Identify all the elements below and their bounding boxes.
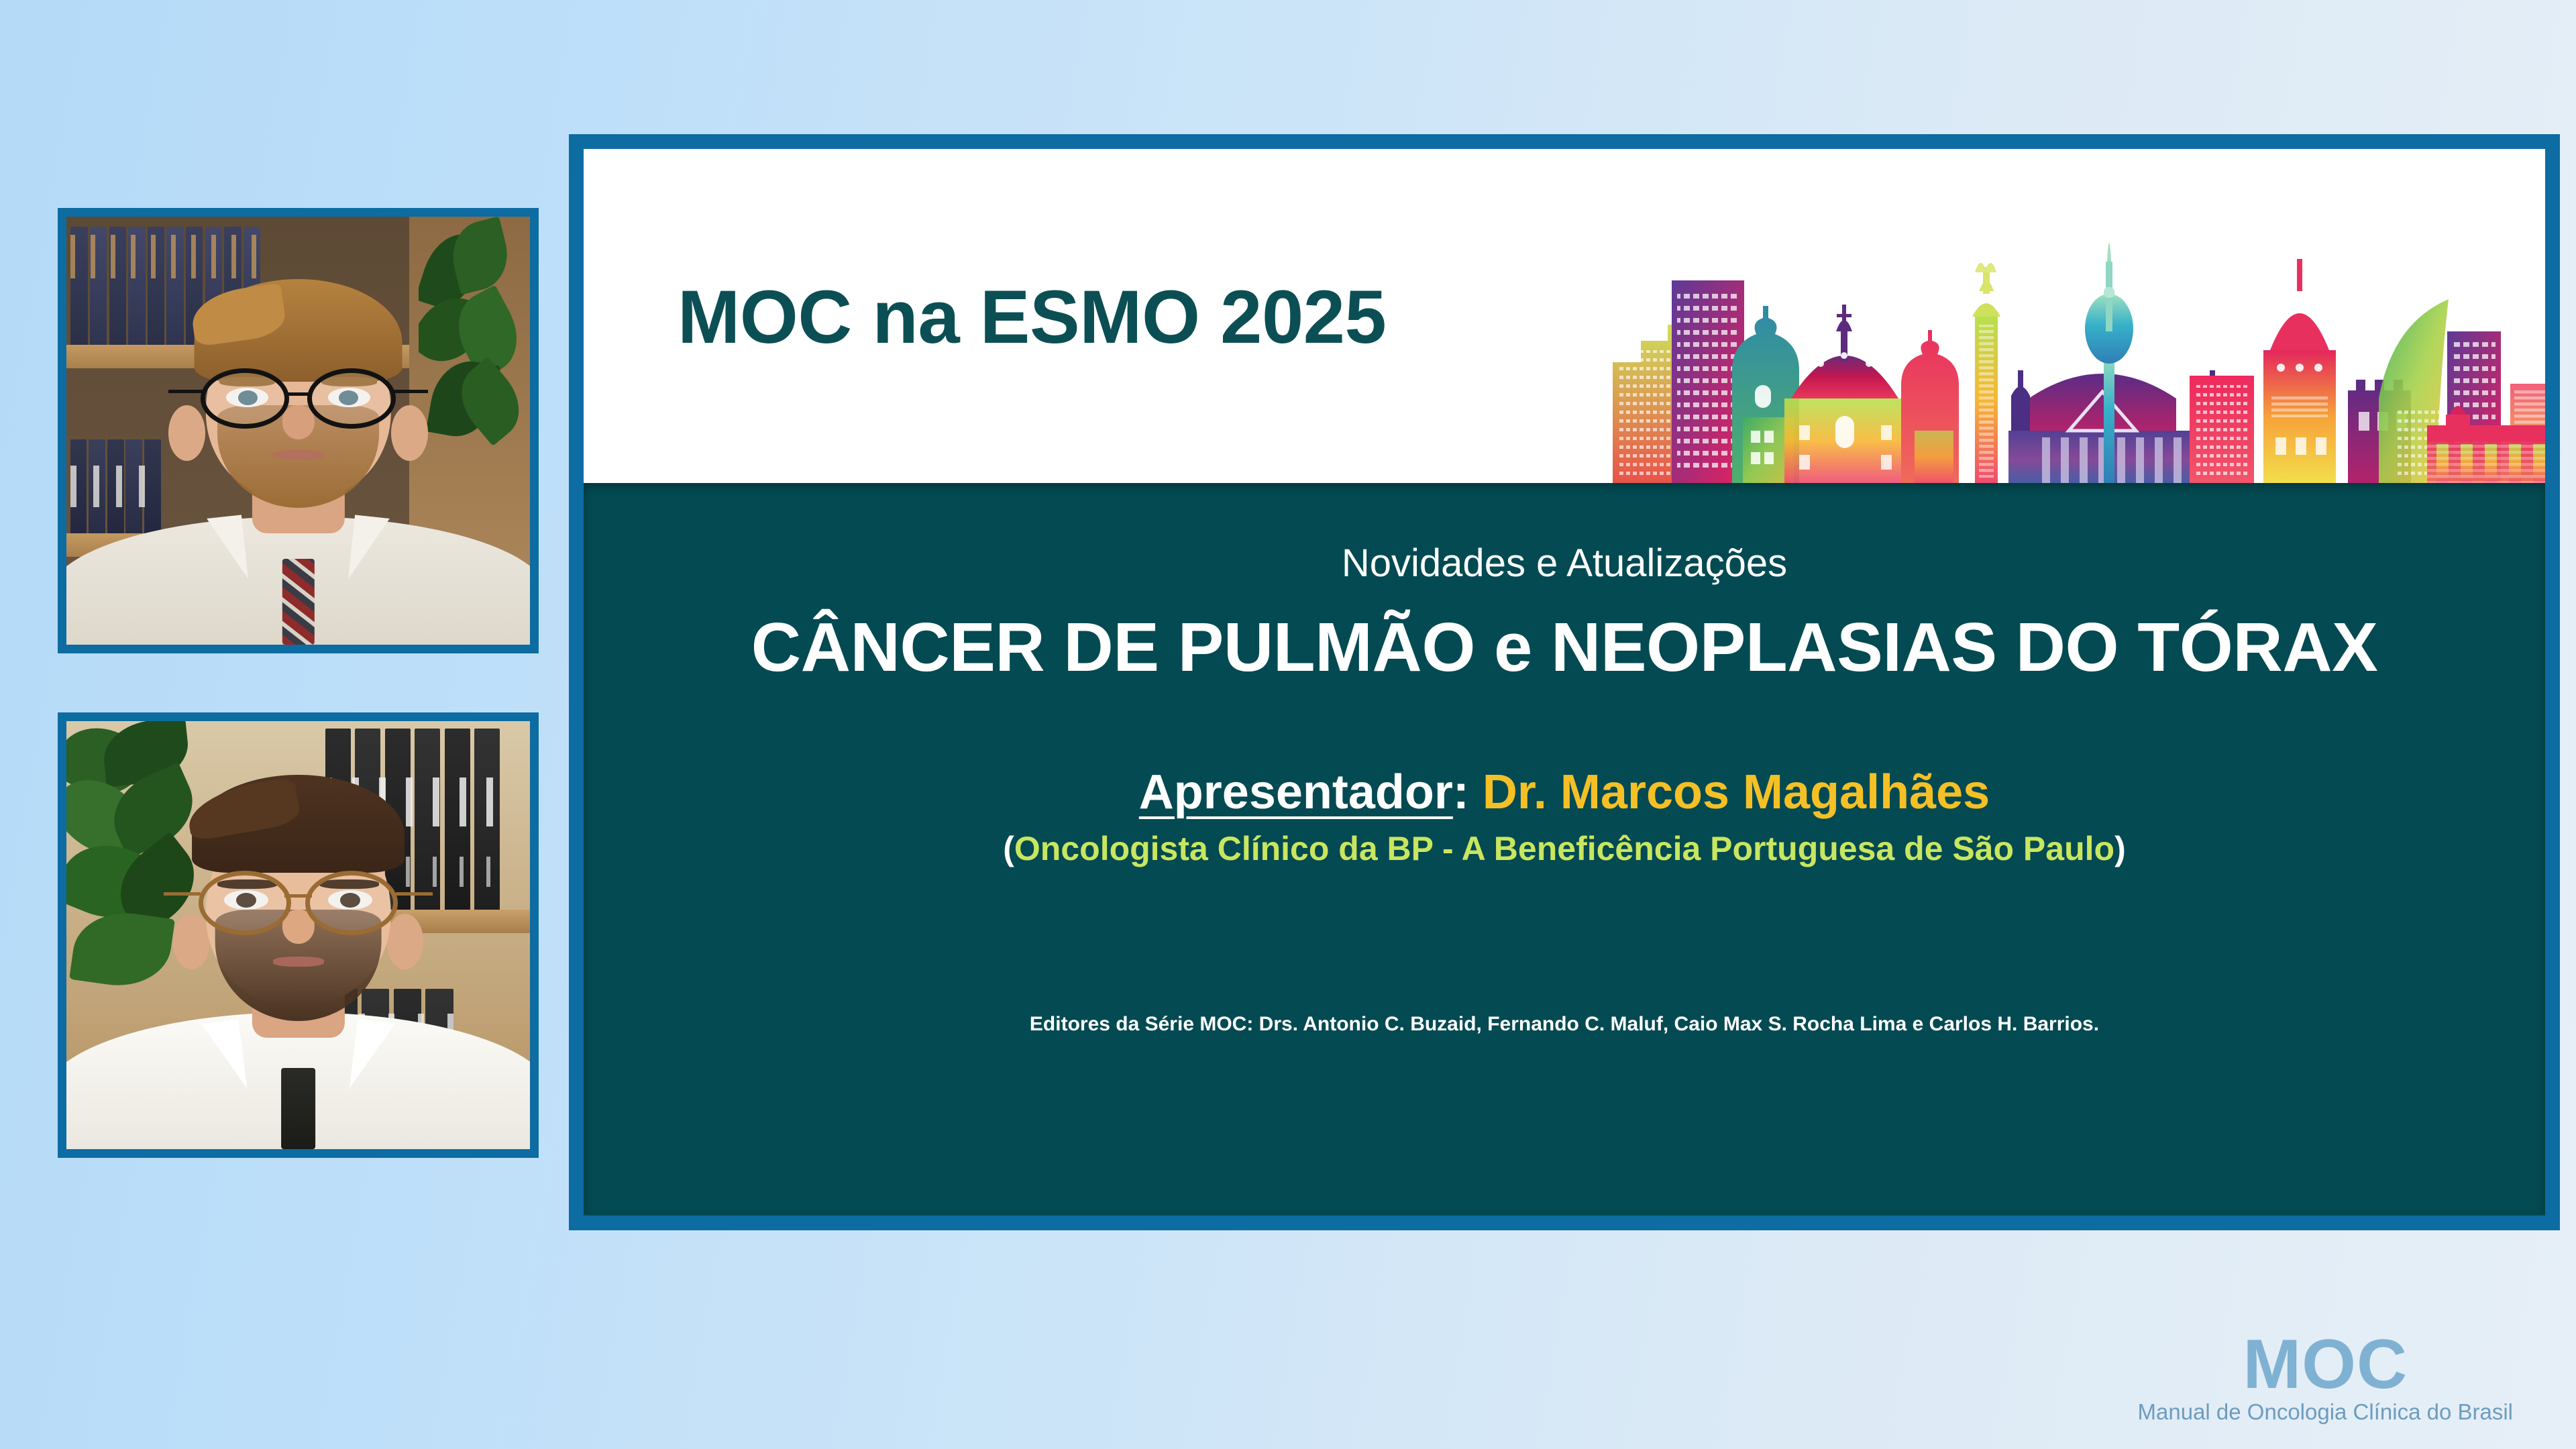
glasses-icon: [305, 871, 398, 935]
presenter-line: Apresentador: Dr. Marcos Magalhães: [584, 765, 2545, 820]
slide-main-title: CÂNCER DE PULMÃO e NEOPLASIAS DO TÓRAX: [584, 608, 2545, 687]
editors-credit: Editores da Série MOC: Drs. Antonio C. B…: [584, 1013, 2545, 1036]
berlin-skyline-icon: [1599, 149, 2545, 483]
slide-subtitle: Novidades e Atualizações: [584, 541, 2545, 586]
slide-body: Novidades e Atualizações CÂNCER DE PULMÃ…: [584, 483, 2545, 1214]
glasses-icon: [307, 368, 395, 428]
glasses-icon: [199, 871, 291, 935]
video-tile-participant-top[interactable]: [58, 208, 539, 653]
moc-logo: MOC Manual de Oncologia Clínica do Brasi…: [2138, 1332, 2513, 1425]
person-figure: [66, 217, 530, 645]
presenter-affiliation-line: (Oncologista Clínico da BP - A Beneficên…: [584, 829, 2545, 868]
presenter-colon: :: [1453, 765, 1483, 819]
affiliation-text: Oncologista Clínico da BP - A Beneficênc…: [1014, 830, 2114, 867]
presenter-label: Apresentador: [1139, 765, 1453, 819]
affiliation-close-paren: ): [2114, 830, 2126, 867]
participant-photo-top: [66, 217, 530, 645]
video-tile-participant-bottom[interactable]: [58, 712, 539, 1158]
slide-header: MOC na ESMO 2025: [584, 149, 2545, 483]
presentation-slide: MOC na ESMO 2025: [569, 134, 2560, 1230]
affiliation-open-paren: (: [1003, 830, 1014, 867]
moc-logo-acronym: MOC: [2138, 1332, 2513, 1398]
presenter-name: Dr. Marcos Magalhães: [1483, 765, 1990, 819]
slide-header-title: MOC na ESMO 2025: [678, 274, 1386, 360]
person-figure: [66, 721, 530, 1149]
glasses-icon: [201, 368, 288, 428]
moc-logo-tagline: Manual de Oncologia Clínica do Brasil: [2138, 1399, 2513, 1425]
participant-photo-bottom: [66, 721, 530, 1149]
